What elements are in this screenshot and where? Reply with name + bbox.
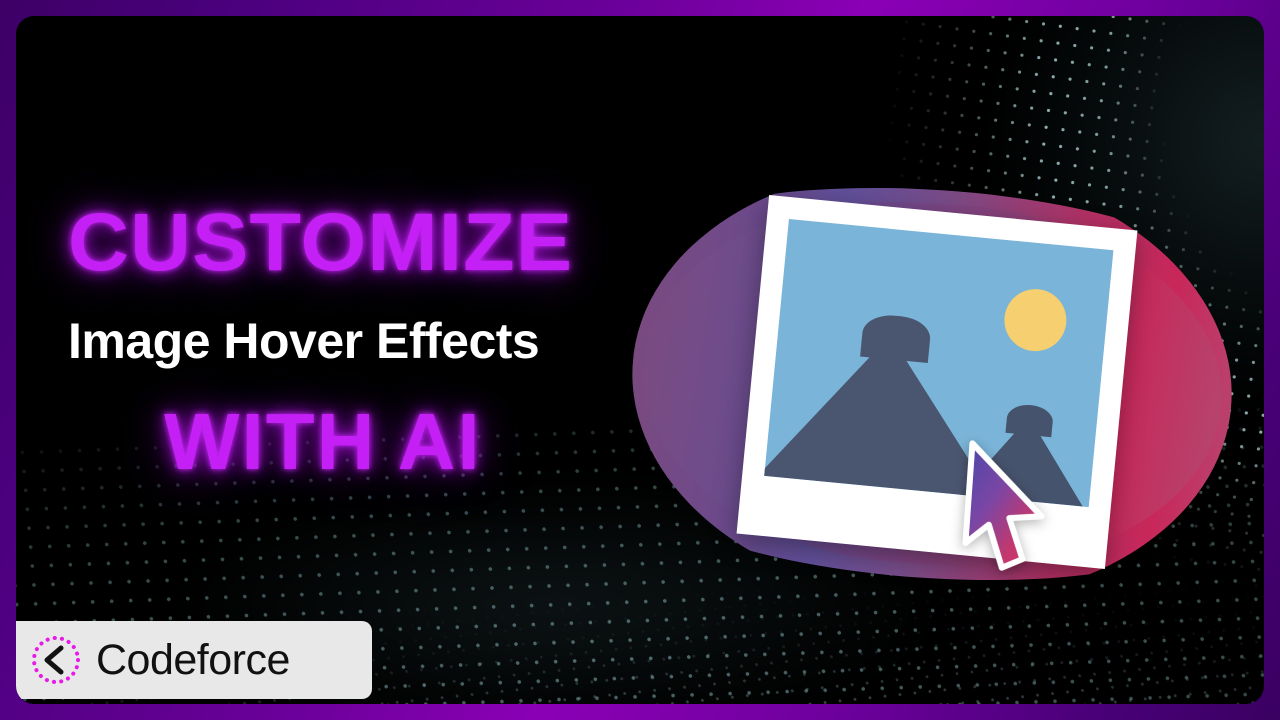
mountain-large-peak	[860, 313, 932, 363]
headline-line-2: Image Hover Effects	[68, 316, 628, 366]
thumbnail-card: CUSTOMIZE Image Hover Effects WITH AI	[16, 16, 1264, 704]
mountain-small-peak	[1005, 403, 1054, 437]
sun-icon	[1002, 286, 1070, 354]
brand-badge[interactable]: Codeforce	[16, 621, 372, 699]
mouse-cursor-icon	[956, 439, 1061, 577]
thumbnail-frame: CUSTOMIZE Image Hover Effects WITH AI	[0, 0, 1280, 720]
headline-line-1: CUSTOMIZE	[68, 202, 645, 284]
brand-name: Codeforce	[96, 639, 290, 682]
photo-image	[764, 219, 1113, 507]
hero-illustration	[624, 184, 1244, 584]
headline-line-3: WITH AI	[164, 402, 628, 482]
headline-group: CUSTOMIZE Image Hover Effects WITH AI	[68, 202, 628, 482]
chevron-left-dotted-circle-icon	[30, 634, 82, 686]
photo-frame	[737, 195, 1138, 569]
